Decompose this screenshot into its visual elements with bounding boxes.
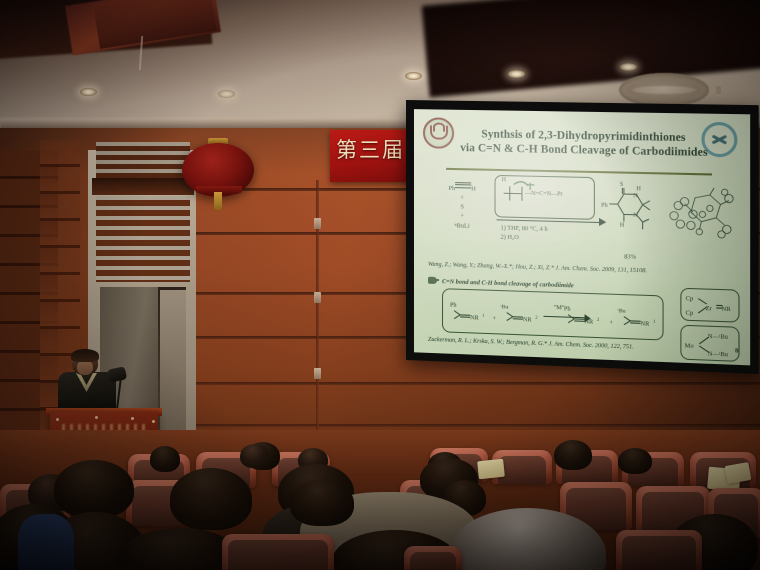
audience-shoulders — [18, 514, 74, 570]
seat[interactable] — [616, 530, 702, 570]
svg-text:2: 2 — [597, 317, 599, 322]
reagent-2: S — [460, 204, 464, 211]
svg-text:NR: NR — [641, 321, 650, 327]
crystal-structure-diagram — [664, 183, 736, 242]
recessed-downlight-icon — [218, 90, 235, 98]
audience-head — [240, 444, 270, 468]
svg-text:1: 1 — [482, 313, 484, 318]
ceiling-vent-icon — [619, 73, 709, 107]
podium-stud — [56, 418, 59, 421]
seat[interactable] — [404, 546, 462, 570]
svg-text:N: N — [633, 193, 638, 199]
svg-text:NR: NR — [470, 315, 478, 321]
audience-head — [290, 480, 354, 526]
svg-text:Zr: Zr — [706, 305, 712, 312]
svg-text:H: H — [620, 223, 625, 229]
audience-head — [54, 460, 134, 518]
recessed-downlight-icon — [80, 88, 97, 96]
audience-head — [150, 446, 180, 472]
slide-title-line1: Synthsis of 2,3-Dihydropyrimidinthiones — [481, 128, 685, 144]
recessed-downlight-icon — [620, 63, 637, 71]
slide-title: Synthsis of 2,3-Dihydropyrimidinthiones … — [436, 127, 733, 162]
slide-title-line2: via C=N & C-H Bond Cleavage of Carbodiim… — [460, 142, 707, 159]
svg-text:Cp: Cp — [686, 295, 694, 302]
speaker-face — [77, 360, 93, 375]
projection-screen-frame: Synthsis of 2,3-Dihydropyrimidinthiones … — [406, 100, 759, 374]
svg-text:2: 2 — [535, 315, 537, 320]
reagent-1-end: H — [471, 185, 476, 192]
podium-stud — [131, 417, 134, 420]
svg-text:H: H — [636, 186, 641, 192]
metal-complex-box-1: Cp Cp Zr NR — [680, 288, 739, 323]
svg-text:Ph: Ph — [601, 203, 608, 209]
louvre-vent-lower — [96, 196, 190, 282]
svg-text:NR: NR — [523, 317, 532, 323]
louvre-band — [92, 178, 194, 195]
section-bullet-text: C=N bond and C-H bond cleavage of carbod… — [442, 278, 574, 289]
lantern-tassel — [214, 192, 222, 210]
audience-head — [618, 448, 652, 474]
podium-stud — [95, 416, 98, 419]
podium-stud — [152, 420, 155, 423]
svg-text:Ph: Ph — [450, 302, 456, 308]
recessed-downlight-icon — [508, 70, 525, 78]
reaction-conditions: 1) THF, 80 °C, 4 h 2) H₂O — [501, 223, 548, 243]
metal-complex-box-2: Mo N—ᵗBu N—ᵗBu — [680, 325, 739, 362]
svg-text:+: + — [609, 320, 613, 326]
reagent-1: Ph — [448, 185, 455, 192]
svg-text:N—ᵗBu: N—ᵗBu — [708, 333, 728, 341]
svg-text:Cp: Cp — [686, 309, 694, 316]
svg-text:ᵗBu: ᵗBu — [618, 308, 626, 314]
citation-2: Zuckerman, R. L.; Krska, S. W.; Bergman,… — [428, 337, 716, 354]
louvre-vent-upper — [96, 142, 190, 178]
svg-text:ᵗBu: ᵗBu — [501, 304, 509, 310]
carbodiimide-formula: —N=C=N—Pr — [525, 191, 563, 198]
lecture-hall-photo: 第三届 化学论坛 Synthsis of 2,3-Dihydropyrimidi… — [0, 0, 760, 570]
audience-head — [554, 440, 592, 470]
door-light-gap — [160, 290, 186, 450]
svg-text:+: + — [492, 316, 496, 322]
audience-head — [170, 468, 252, 530]
reagent-stack: PhH + S + ⁿBuLi — [432, 182, 492, 231]
condition-2: 2) H₂O — [501, 233, 548, 244]
reaction-scheme-1: PhH + S + ⁿBuLi H —N=C=N—Pr — [426, 173, 737, 275]
product-structure: S H N N Ph H — [599, 179, 664, 240]
recessed-downlight-icon — [405, 72, 422, 80]
audience-area — [0, 430, 760, 570]
svg-text:1: 1 — [653, 319, 655, 324]
svg-text:NR: NR — [722, 306, 732, 314]
reagent-3: ⁿBuLi — [455, 222, 470, 229]
projected-slide: Synthsis of 2,3-Dihydropyrimidinthiones … — [414, 109, 750, 365]
speaker-hair — [71, 349, 99, 362]
slide-page-number: 8 — [735, 347, 738, 354]
plus-2: + — [460, 213, 464, 220]
pointing-hand-icon — [428, 277, 437, 284]
plus-1: + — [460, 194, 464, 201]
svg-text:S: S — [620, 182, 623, 188]
handout-paper — [477, 459, 505, 480]
reaction-yield: 83% — [601, 253, 659, 262]
carbodiimide-box: H —N=C=N—Pr — [495, 175, 595, 220]
catalyst-label: "M" — [554, 304, 565, 311]
sprinkler-icon — [716, 86, 721, 94]
reaction-2-arrowhead — [585, 314, 591, 322]
seat[interactable] — [222, 534, 334, 570]
svg-text:N: N — [633, 213, 638, 219]
